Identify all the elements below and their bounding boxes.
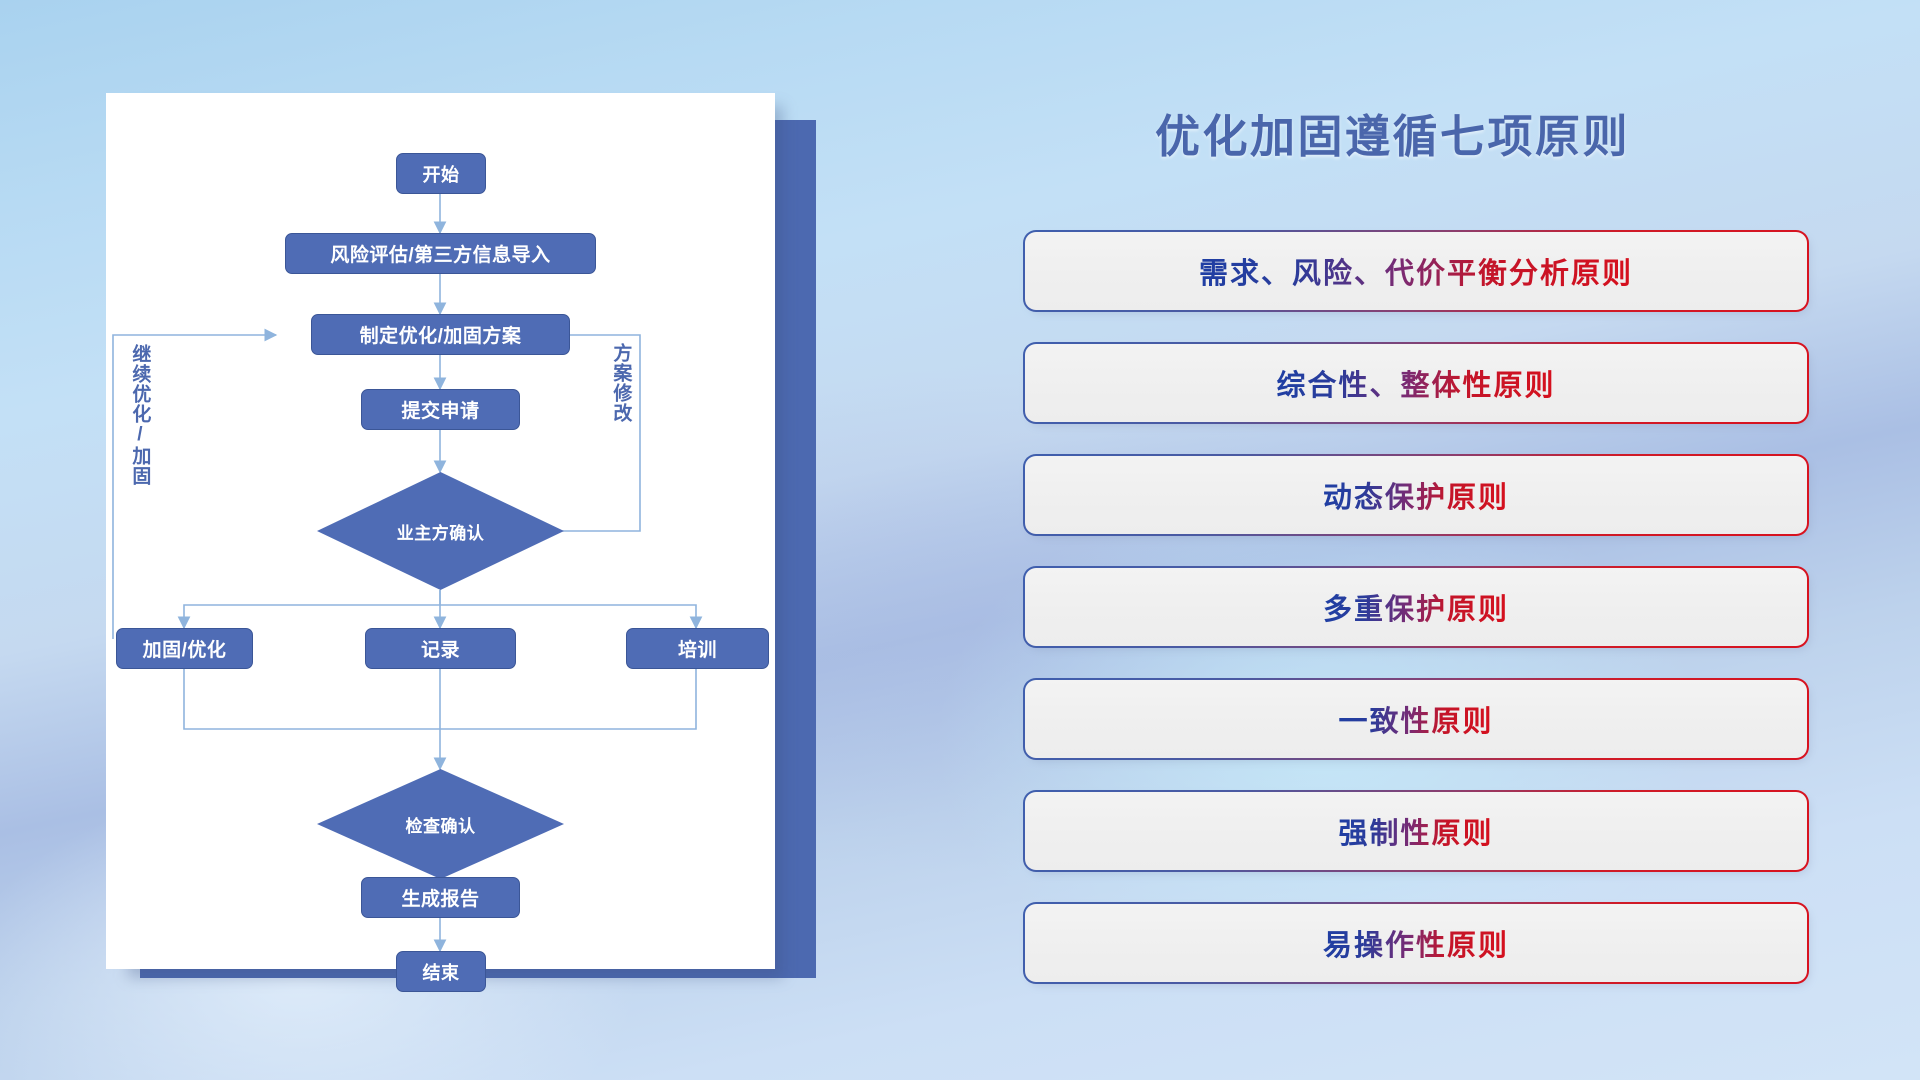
slide-canvas: 开始 风险评估/第三方信息导入 制定优化/加固方案 提交申请 业主方确认 加固/…	[0, 0, 1920, 1080]
flow-node-reinforce[interactable]: 加固/优化	[116, 628, 253, 669]
principle-item[interactable]: 多重保护原则	[1025, 568, 1807, 646]
principle-item[interactable]: 强制性原则	[1025, 792, 1807, 870]
principle-item[interactable]: 一致性原则	[1025, 680, 1807, 758]
principle-label: 需求、风险、代价平衡分析原则	[1199, 250, 1633, 292]
flow-node-label: 加固/优化	[143, 635, 227, 662]
flow-node-submit[interactable]: 提交申请	[361, 389, 520, 430]
principle-label: 强制性原则	[1338, 810, 1493, 852]
flow-node-generate-report[interactable]: 生成报告	[361, 877, 520, 918]
flow-node-plan[interactable]: 制定优化/加固方案	[311, 314, 570, 355]
flow-node-label: 培训	[678, 635, 717, 662]
principle-item[interactable]: 动态保护原则	[1025, 456, 1807, 534]
flow-node-training[interactable]: 培训	[626, 628, 769, 669]
principle-label: 多重保护原则	[1323, 586, 1509, 628]
flow-node-label: 风险评估/第三方信息导入	[330, 240, 550, 267]
flow-node-label: 生成报告	[401, 884, 479, 911]
principle-item[interactable]: 综合性、整体性原则	[1025, 344, 1807, 422]
flow-decision-owner-confirm[interactable]: 业主方确认	[317, 472, 564, 590]
principle-label: 动态保护原则	[1323, 474, 1509, 516]
principle-label: 综合性、整体性原则	[1276, 362, 1555, 404]
flowchart: 开始 风险评估/第三方信息导入 制定优化/加固方案 提交申请 业主方确认 加固/…	[106, 93, 775, 969]
flow-node-label: 业主方确认	[397, 519, 485, 544]
flow-node-label: 开始	[423, 161, 460, 187]
edge-label-right-loop: 方案修改	[611, 343, 630, 423]
principle-item[interactable]: 需求、风险、代价平衡分析原则	[1025, 232, 1807, 310]
principle-label: 易操作性原则	[1323, 922, 1509, 964]
flow-node-risk-assessment[interactable]: 风险评估/第三方信息导入	[285, 233, 596, 274]
flow-node-record[interactable]: 记录	[365, 628, 516, 669]
flow-node-label: 提交申请	[401, 396, 479, 423]
edge-label-left-loop: 继续优化/加固	[130, 344, 149, 486]
flow-node-label: 制定优化/加固方案	[360, 321, 522, 348]
page-title: 优化加固遵循七项原则	[1155, 100, 1630, 165]
flow-node-label: 记录	[421, 635, 460, 662]
principle-item[interactable]: 易操作性原则	[1025, 904, 1807, 982]
flow-decision-check-confirm[interactable]: 检查确认	[317, 769, 564, 879]
flow-node-end[interactable]: 结束	[396, 951, 486, 992]
flow-node-start[interactable]: 开始	[396, 153, 486, 194]
flow-node-label: 结束	[423, 959, 460, 985]
principles-list: 需求、风险、代价平衡分析原则 综合性、整体性原则 动态保护原则 多重保护原则 一…	[1025, 232, 1807, 1016]
principle-label: 一致性原则	[1338, 698, 1493, 740]
flow-node-label: 检查确认	[406, 812, 476, 837]
